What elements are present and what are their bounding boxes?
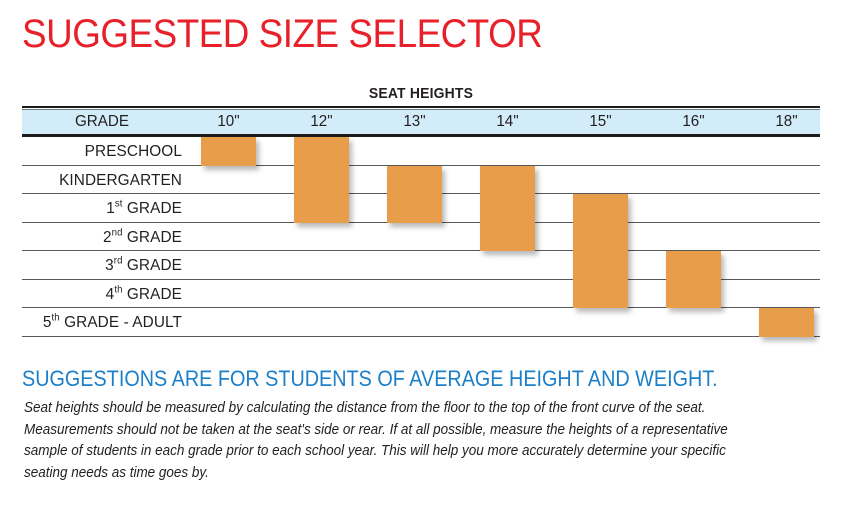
table-header-row: GRADE 10"12"13"14"15"16"18" (22, 110, 820, 137)
table-row: KINDERGARTEN (22, 166, 820, 195)
column-header-1: 10" (184, 110, 272, 134)
footer-line: Seat heights should be measured by calcu… (24, 398, 759, 420)
row-label-6: 4th GRADE (28, 280, 182, 309)
footer-body: Seat heights should be measured by calcu… (24, 398, 759, 484)
table-row: 2nd GRADE (22, 223, 820, 252)
table-body: PRESCHOOLKINDERGARTEN1st GRADE2nd GRADE3… (22, 137, 820, 337)
row-label-4: 2nd GRADE (28, 223, 182, 252)
row-label-7: 5th GRADE - ADULT (28, 308, 182, 337)
column-header-3: 13" (370, 110, 458, 134)
seat-heights-caption: SEAT HEIGHTS (50, 85, 792, 102)
table-row: 4th GRADE (22, 280, 820, 309)
footer-line: Measurements should not be taken at the … (24, 420, 759, 442)
table-row: 5th GRADE - ADULT (22, 308, 820, 337)
column-header-2: 12" (277, 110, 365, 134)
column-header-6: 16" (649, 110, 737, 134)
column-header-4: 14" (463, 110, 551, 134)
table-row: PRESCHOOL (22, 137, 820, 166)
table-row: 3rd GRADE (22, 251, 820, 280)
row-label-5: 3rd GRADE (28, 251, 182, 280)
row-label-2: KINDERGARTEN (28, 166, 182, 195)
size-selector-table: GRADE 10"12"13"14"15"16"18" PRESCHOOLKIN… (22, 106, 820, 337)
column-header-grade: GRADE (26, 110, 178, 134)
footer-line: sample of students in each grade prior t… (24, 441, 759, 463)
column-header-7: 18" (742, 110, 830, 134)
page-title: SUGGESTED SIZE SELECTOR (22, 12, 542, 56)
footer-heading: SUGGESTIONS ARE FOR STUDENTS OF AVERAGE … (22, 366, 718, 392)
row-label-3: 1st GRADE (28, 194, 182, 223)
table-row: 1st GRADE (22, 194, 820, 223)
column-header-5: 15" (556, 110, 644, 134)
footer-line: seating needs as time goes by. (24, 463, 759, 485)
row-label-1: PRESCHOOL (28, 137, 182, 166)
